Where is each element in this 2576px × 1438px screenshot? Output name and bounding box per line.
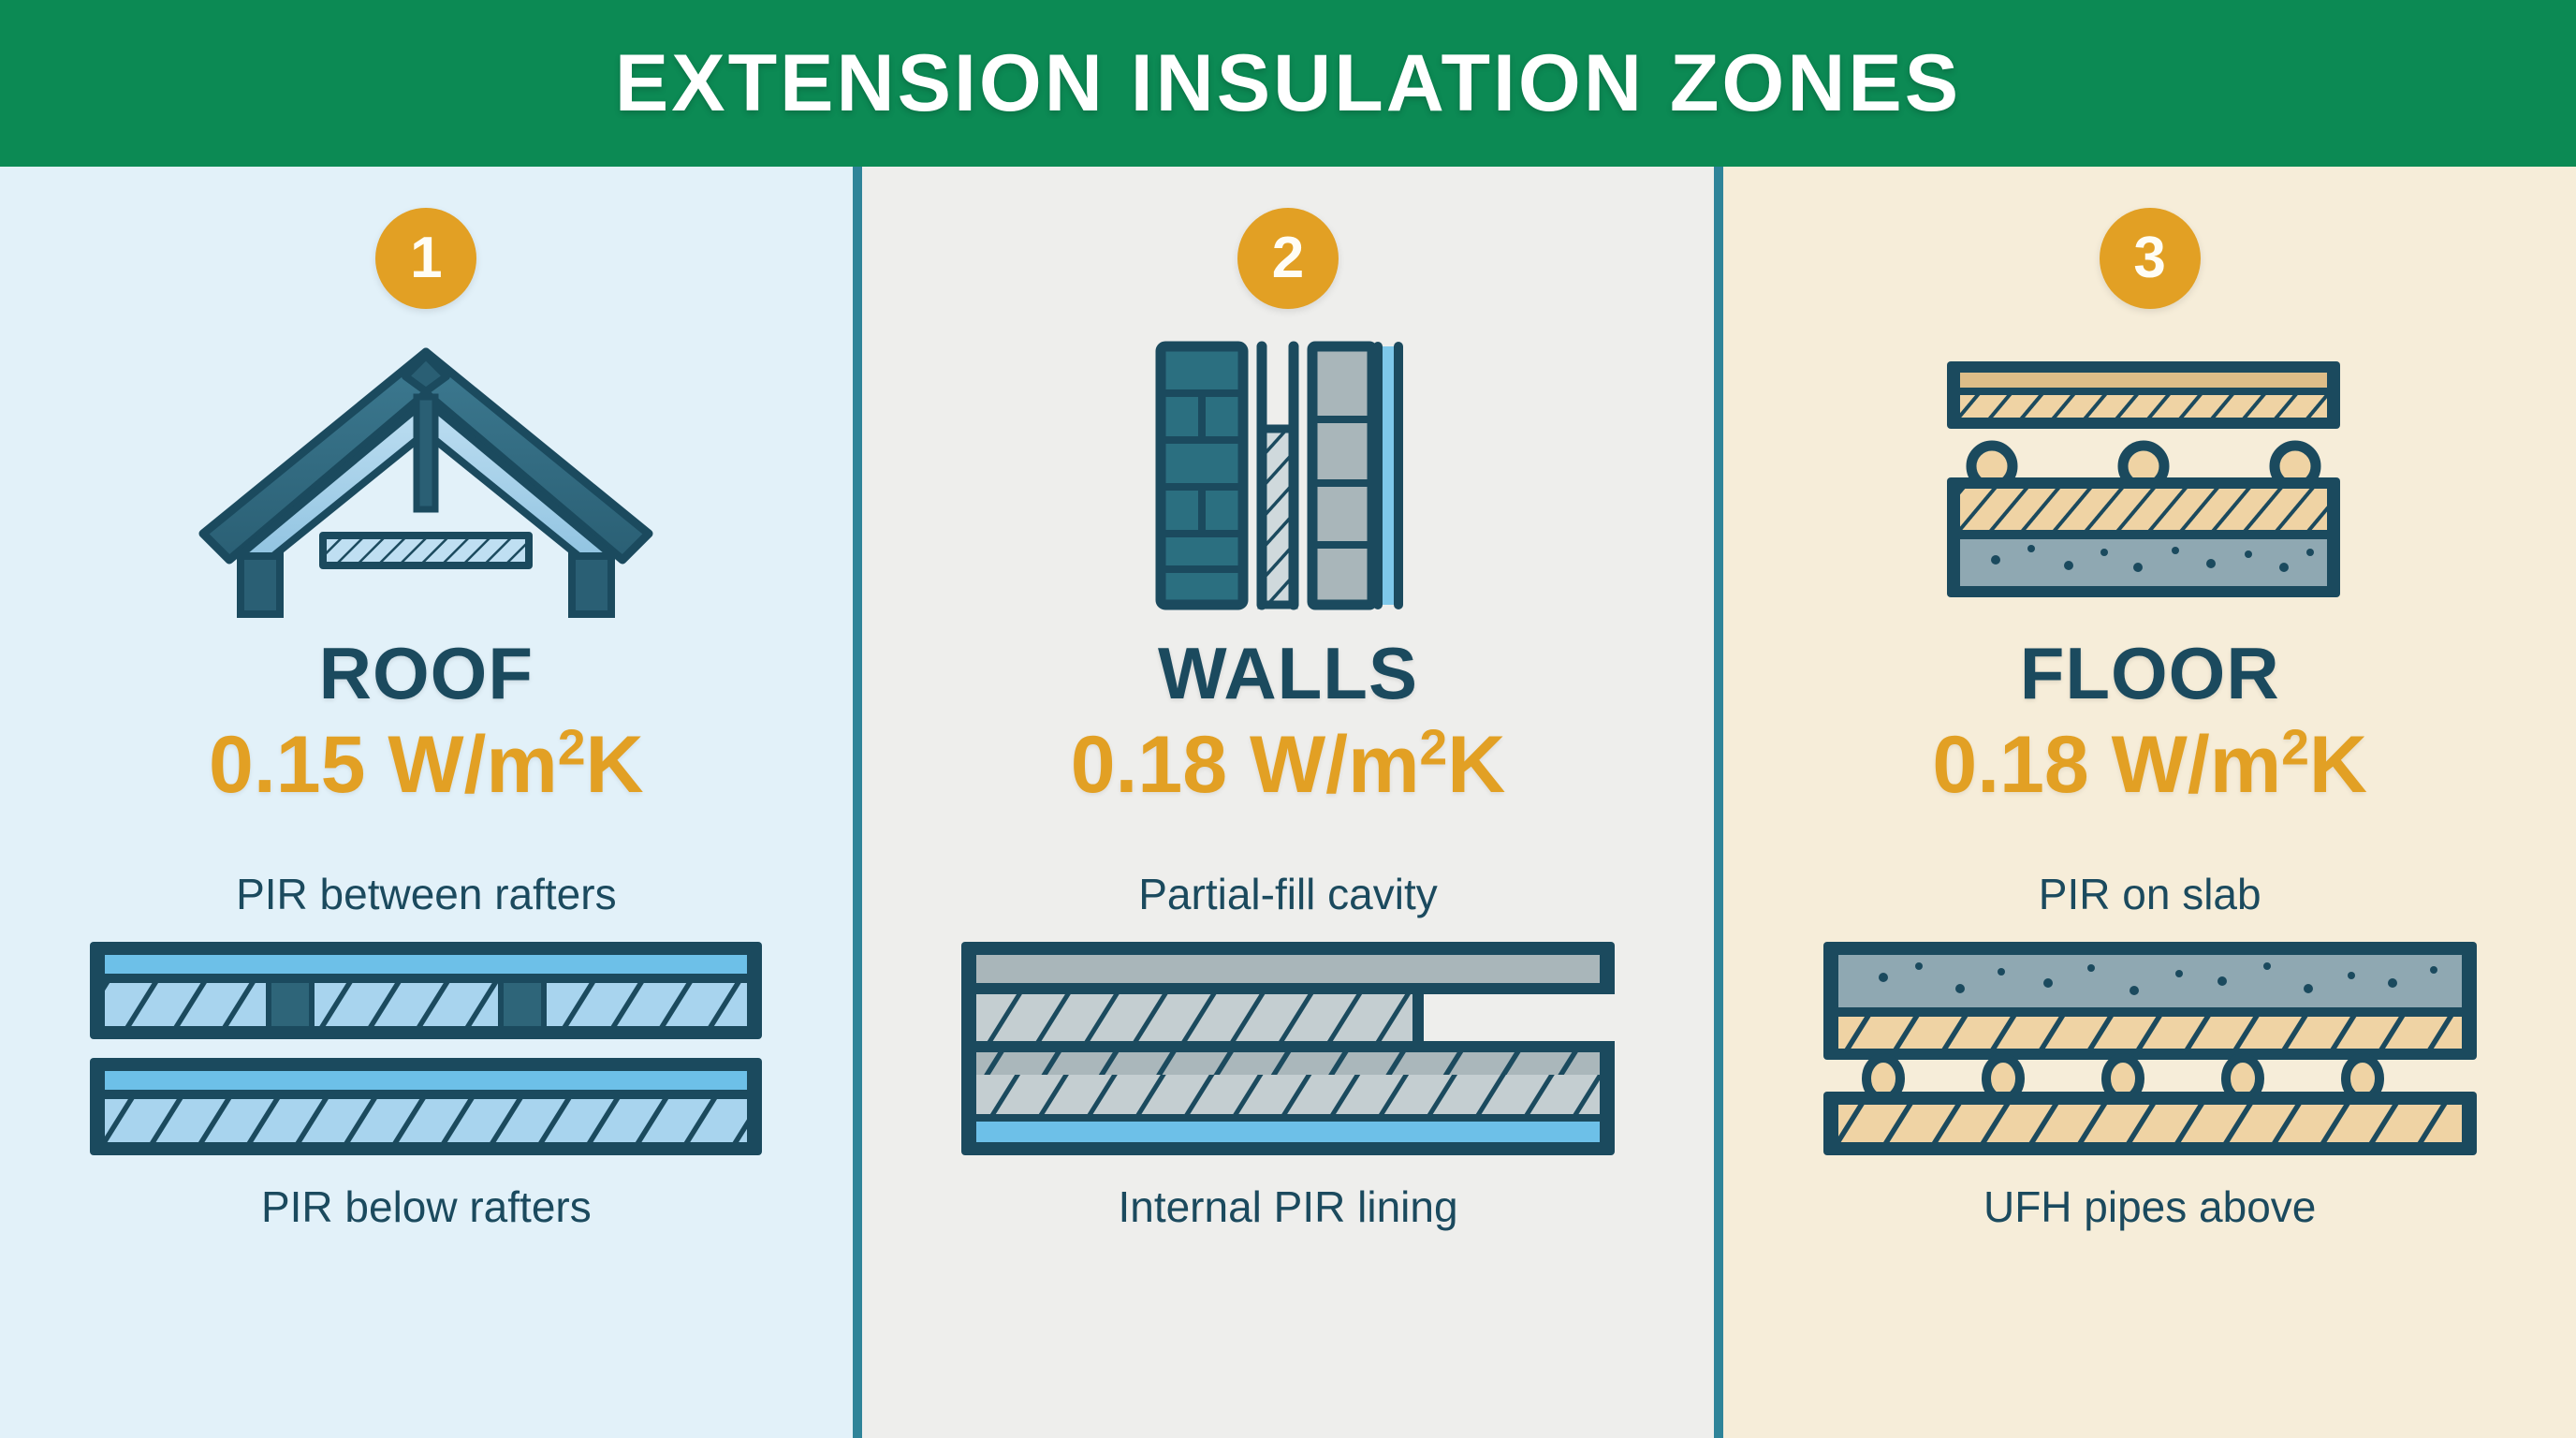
- wall-layers-diagram: [956, 936, 1620, 1161]
- zone-name-floor: FLOOR: [2020, 637, 2280, 710]
- zone-badge-2: 2: [1237, 208, 1339, 309]
- detail-label-top-floor: PIR on slab: [2039, 873, 2261, 916]
- detail-label-bottom-floor: UFH pipes above: [1983, 1185, 2316, 1228]
- roof-layers-diagram: [84, 936, 768, 1161]
- zone-badge-1: 1: [375, 208, 476, 309]
- u-value-floor: 0.18 W/m2K: [1932, 723, 2367, 807]
- column-divider-2: [1714, 167, 1723, 1438]
- u-value-suffix: K: [586, 720, 644, 810]
- infographic-root: EXTENSION INSULATION ZONES 1: [0, 0, 2576, 1438]
- zone-column-walls: 2: [862, 167, 1715, 1438]
- u-value-number: 0.18: [1932, 720, 2088, 810]
- u-value-roof: 0.15 W/m2K: [209, 723, 644, 807]
- u-value-unit: W/m: [2112, 720, 2282, 810]
- u-value-exponent: 2: [1420, 720, 1448, 775]
- u-value-exponent: 2: [2281, 720, 2309, 775]
- floor-slab-icon: [1930, 335, 2370, 616]
- u-value-unit: W/m: [388, 720, 558, 810]
- zone-name-walls: WALLS: [1158, 637, 1418, 710]
- u-value-exponent: 2: [558, 720, 586, 775]
- header-banner: EXTENSION INSULATION ZONES: [0, 0, 2576, 167]
- detail-label-top-roof: PIR between rafters: [236, 873, 617, 916]
- u-value-number: 0.18: [1071, 720, 1227, 810]
- floor-layers-diagram: [1818, 936, 2482, 1161]
- u-value-number: 0.15: [209, 720, 365, 810]
- pitched-roof-icon: [183, 335, 669, 616]
- column-divider-1: [853, 167, 862, 1438]
- zone-column-floor: 3: [1723, 167, 2576, 1438]
- zone-name-roof: ROOF: [319, 637, 534, 710]
- detail-label-bottom-roof: PIR below rafters: [261, 1185, 592, 1228]
- u-value-suffix: K: [2309, 720, 2367, 810]
- u-value-unit: W/m: [1250, 720, 1420, 810]
- u-value-walls: 0.18 W/m2K: [1071, 723, 1506, 807]
- detail-label-top-walls: Partial-fill cavity: [1138, 873, 1438, 916]
- zones-container: 1: [0, 167, 2576, 1438]
- zone-column-roof: 1: [0, 167, 853, 1438]
- u-value-suffix: K: [1447, 720, 1505, 810]
- cavity-wall-icon: [1148, 335, 1428, 616]
- page-title: EXTENSION INSULATION ZONES: [615, 43, 1961, 124]
- zone-badge-3: 3: [2100, 208, 2201, 309]
- detail-label-bottom-walls: Internal PIR lining: [1118, 1185, 1457, 1228]
